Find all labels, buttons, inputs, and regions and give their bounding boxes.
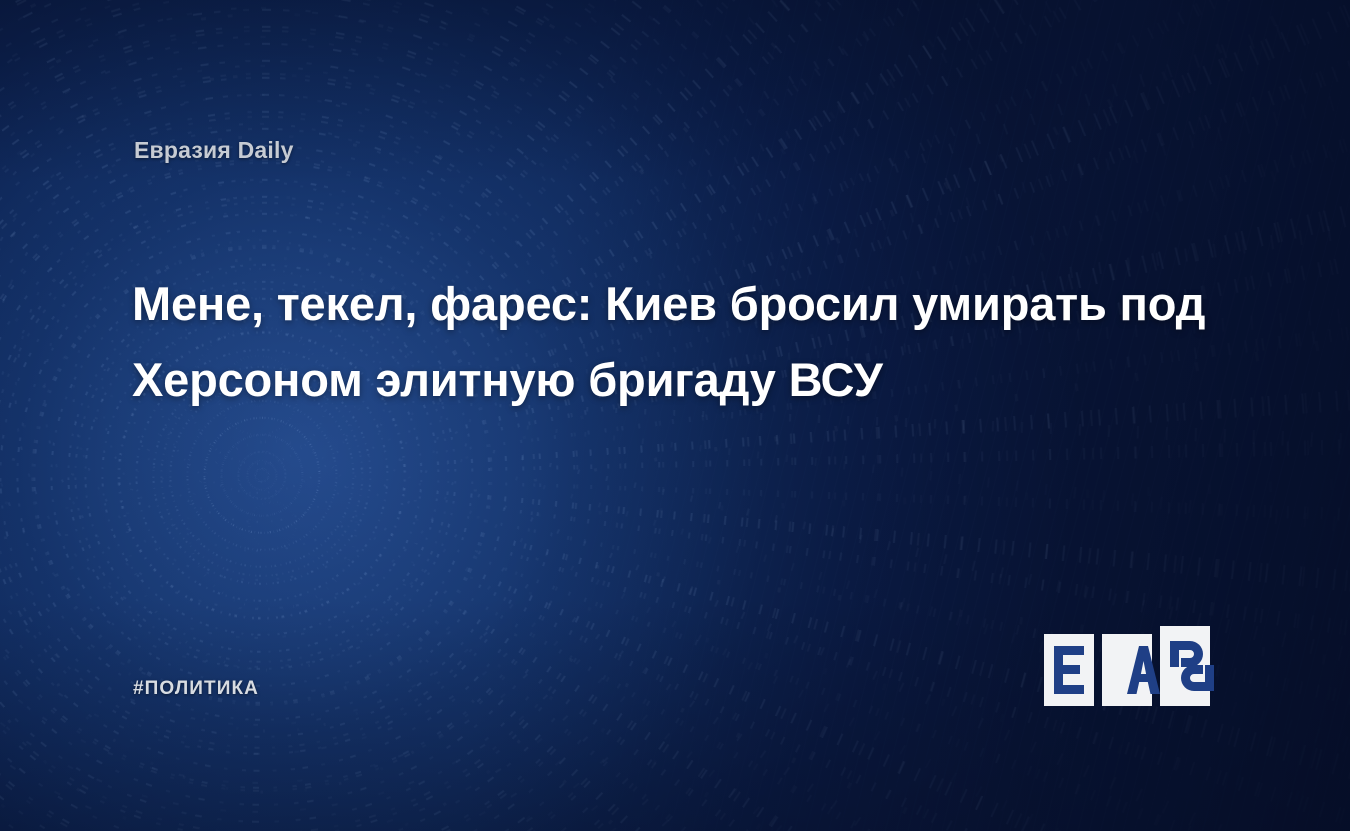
logo-glyphs-icon [1044,626,1230,706]
eadaily-logo[interactable] [1044,626,1230,706]
logo-letter-d-icon [1170,632,1214,700]
logo-letter-a-icon [1127,646,1160,694]
social-share-card: Евразия Daily Мене, текел, фарес: Киев б… [0,0,1350,831]
logo-letter-e-icon [1054,646,1084,694]
category-tag-politics[interactable]: #ПОЛИТИКА [133,678,259,700]
brand-name: Евразия Daily [134,137,294,164]
card-content: Евразия Daily Мене, текел, фарес: Киев б… [0,0,1350,831]
page-title: Мене, текел, фарес: Киев бросил умирать … [132,266,1242,418]
